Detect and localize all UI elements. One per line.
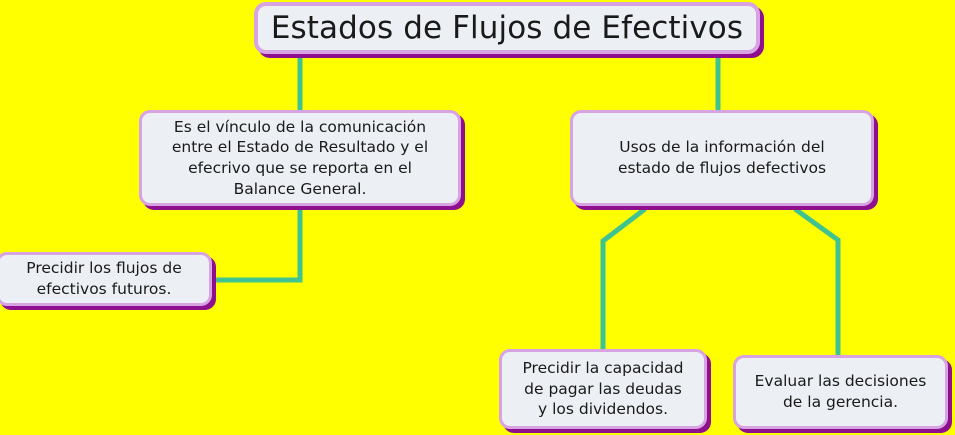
node-precidir-capacidad[interactable]: Precidir la capacidad de pagar las deuda… (499, 349, 707, 429)
node-vinculo[interactable]: Es el vínculo de la comunicación entre e… (139, 110, 461, 206)
node-vinculo-label: Es el vínculo de la comunicación entre e… (142, 117, 458, 199)
node-root[interactable]: Estados de Flujos de Efectivos (254, 2, 760, 54)
connector-usos-precidircapacidad (603, 209, 645, 350)
connector-usos-evaluar (795, 209, 838, 356)
node-precidir-flujos[interactable]: Precidir los flujos de efectivos futuros… (0, 252, 212, 306)
mindmap-canvas: Estados de Flujos de Efectivos Es el vín… (0, 0, 955, 435)
node-root-label: Estados de Flujos de Efectivos (258, 12, 756, 45)
node-usos[interactable]: Usos de la información del estado de flu… (570, 110, 874, 206)
node-evaluar-label: Evaluar las decisiones de la gerencia. (736, 371, 945, 412)
node-precidir-flujos-label: Precidir los flujos de efectivos futuros… (0, 258, 209, 299)
node-usos-label: Usos de la información del estado de flu… (573, 137, 871, 178)
node-evaluar[interactable]: Evaluar las decisiones de la gerencia. (733, 355, 948, 429)
node-precidir-capacidad-label: Precidir la capacidad de pagar las deuda… (502, 358, 704, 420)
connector-vinculo-precidirflujos (213, 208, 300, 280)
